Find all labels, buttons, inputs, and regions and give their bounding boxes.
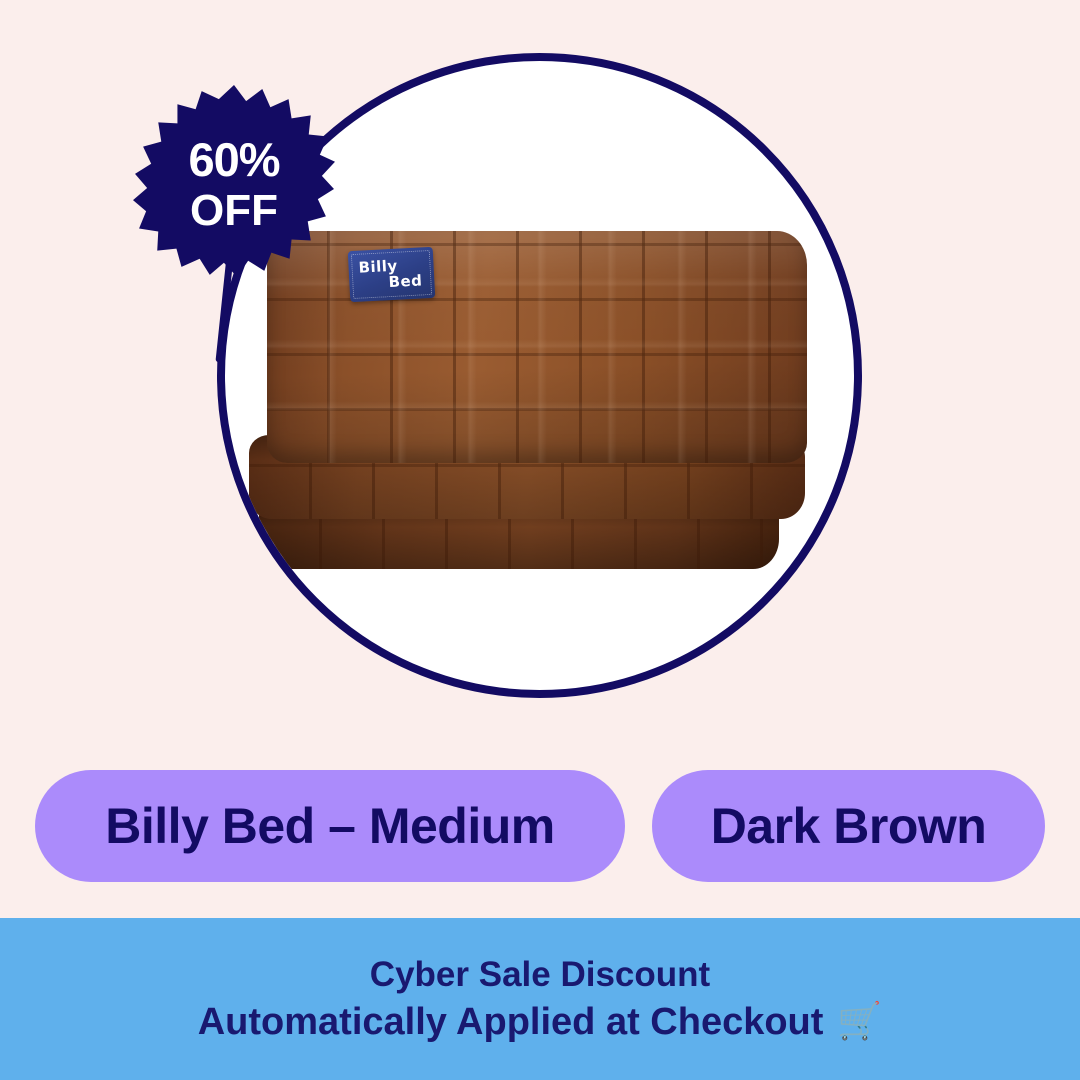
variant-pill-color-label: Dark Brown — [711, 797, 987, 855]
variant-pill-size-label: Billy Bed – Medium — [105, 797, 554, 855]
promo-canvas: Billy Bed 60% OFF Billy Bed – Medium Dar… — [0, 0, 1080, 1080]
footer-subline-text: Automatically Applied at Checkout — [198, 1001, 824, 1044]
brand-tag-line-2: Bed — [355, 273, 429, 293]
variant-pill-size[interactable]: Billy Bed – Medium — [35, 770, 625, 882]
starburst-icon — [133, 83, 335, 285]
promo-footer-banner: Cyber Sale Discount Automatically Applie… — [0, 918, 1080, 1080]
variant-pill-row: Billy Bed – Medium Dark Brown — [35, 770, 1045, 882]
footer-headline: Cyber Sale Discount — [370, 955, 710, 995]
brand-tag: Billy Bed — [348, 247, 436, 302]
variant-pill-color[interactable]: Dark Brown — [652, 770, 1045, 882]
shopping-cart-icon: 🛒 — [837, 1004, 882, 1040]
discount-badge: 60% OFF — [133, 83, 335, 285]
footer-subline: Automatically Applied at Checkout 🛒 — [198, 1001, 883, 1044]
